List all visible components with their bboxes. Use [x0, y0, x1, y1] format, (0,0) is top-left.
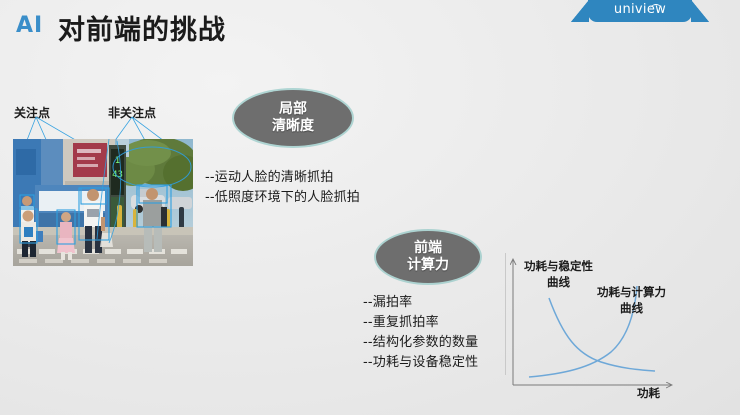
chart-label-compute-line1: 功耗与计算力 — [597, 285, 666, 301]
bullet-item: --重复抓拍率 — [363, 313, 478, 333]
uniview-logo-banner: uniview — [588, 0, 692, 22]
callout-frontend-compute-line2: 计算力 — [407, 257, 449, 274]
chart-label-compute: 功耗与计算力 曲线 — [597, 285, 666, 316]
callout-frontend-compute[interactable]: 前端 计算力 — [376, 231, 480, 283]
slide-canvas: uniview AI 对前端的挑战 关注点 非关注点 — [0, 0, 740, 415]
bullet-item: --漏拍率 — [363, 293, 478, 313]
callout-frontend-compute-line1: 前端 — [414, 240, 442, 257]
callout-local-clarity-line2: 清晰度 — [272, 118, 314, 135]
bullet-item: --功耗与设备稳定性 — [363, 353, 478, 373]
bullet-item: --结构化参数的数量 — [363, 333, 478, 353]
street-scene-photo: 1 43 — [13, 139, 193, 266]
bullet-list-frontend-compute: --漏拍率 --重复抓拍率 --结构化参数的数量 --功耗与设备稳定性 — [363, 293, 478, 374]
chart-label-stability: 功耗与稳定性 曲线 — [524, 259, 593, 290]
chart-xaxis-label: 功耗 — [637, 386, 660, 402]
chart-label-stability-line1: 功耗与稳定性 — [524, 259, 593, 275]
logo-swoosh-icon — [650, 4, 662, 10]
bullet-item: --运动人脸的清晰抓拍 — [205, 168, 360, 188]
page-title: 对前端的挑战 — [58, 8, 226, 47]
title-ai-tag: AI — [16, 13, 43, 38]
bullet-list-local-clarity: --运动人脸的清晰抓拍 --低照度环境下的人脸抓拍 — [205, 168, 360, 208]
callout-local-clarity[interactable]: 局部 清晰度 — [234, 90, 352, 146]
bullet-item: --低照度环境下的人脸抓拍 — [205, 188, 360, 208]
callout-local-clarity-line1: 局部 — [279, 101, 307, 118]
uniview-logo-text: uniview — [588, 2, 692, 17]
chart-label-stability-line2: 曲线 — [524, 275, 593, 291]
chart-label-compute-line2: 曲线 — [597, 301, 666, 317]
